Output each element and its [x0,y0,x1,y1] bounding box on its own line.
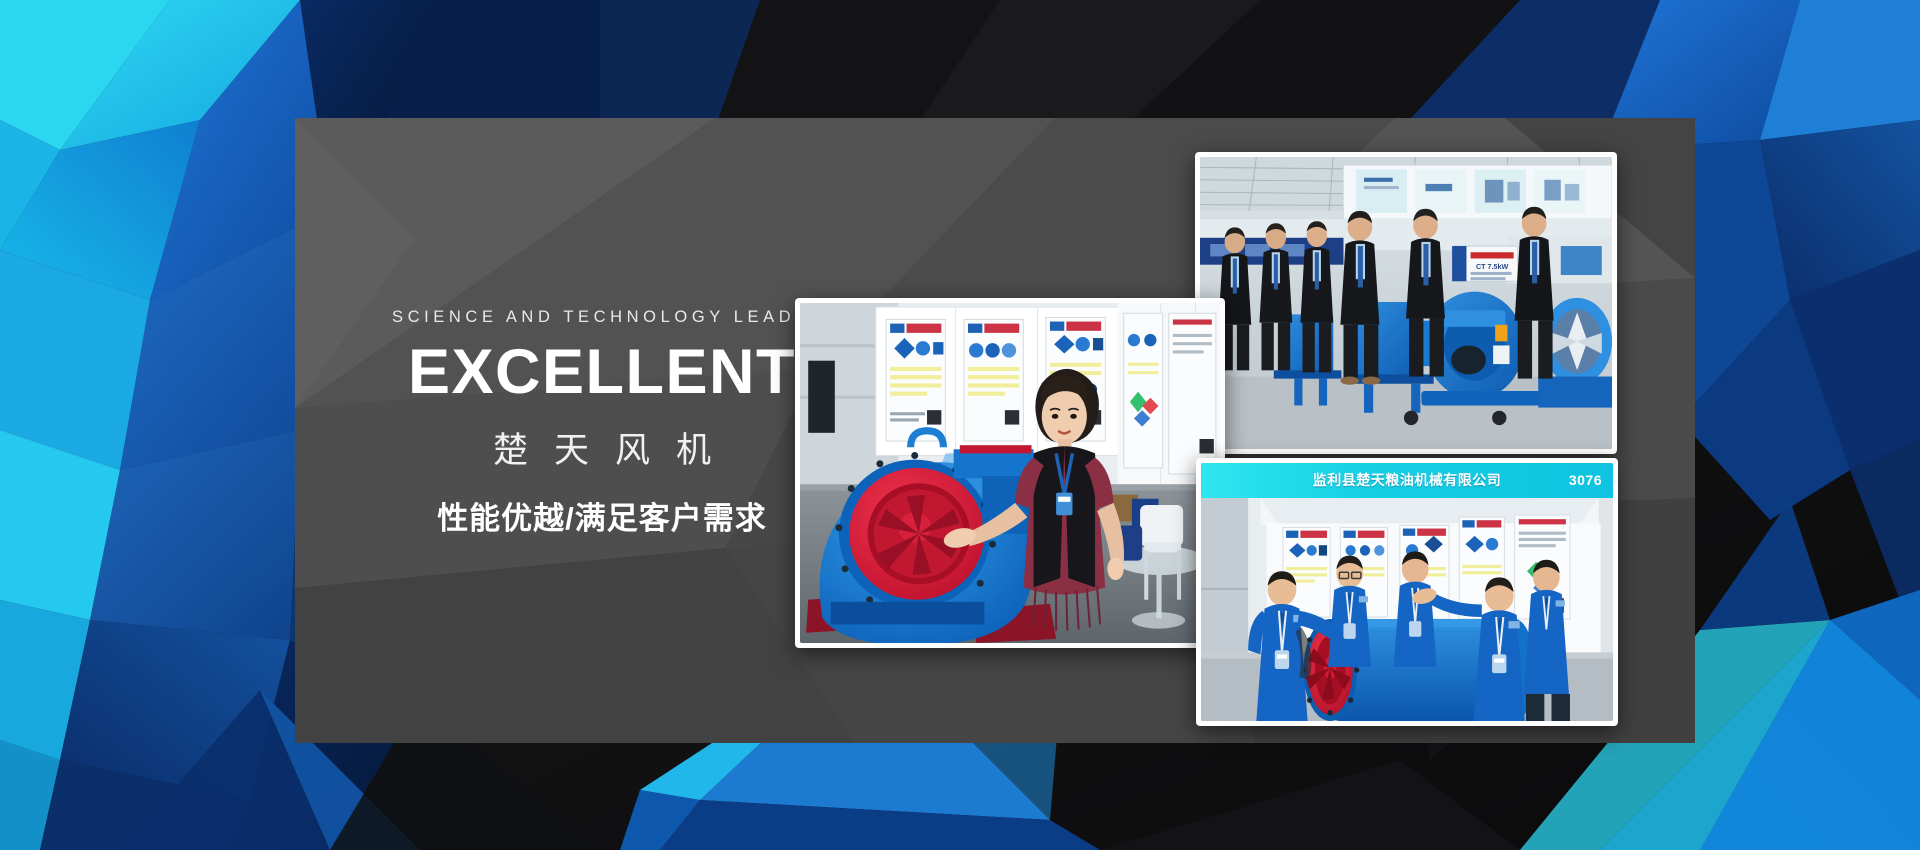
photo-team-suits-art: CT 7.5kW [1200,157,1612,449]
page-title: EXCELLENT [392,341,812,404]
photo-presenter-with-fan [795,298,1225,648]
company-name-cn: 楚天风机 [392,422,812,473]
headline-group: SCIENCE AND TECHNOLOGY LEADING EXCELLENT… [392,308,812,538]
eyebrow-text: SCIENCE AND TECHNOLOGY LEADING [392,308,812,327]
svg-text:CT 7.5kW: CT 7.5kW [1476,262,1508,271]
booth-company-name: 监利县楚天粮油机械有限公司 [1313,470,1502,490]
photo-presenter-art [800,303,1220,643]
slogan-text: 性能优越/满足客户需求 [392,493,812,538]
booth-banner: 监利县楚天粮油机械有限公司 3076 [1201,463,1613,498]
photo-team-blue-art [1201,463,1613,721]
photo-team-in-suits: CT 7.5kW [1195,152,1617,454]
booth-number: 3076 [1569,472,1602,488]
photo-team-in-blue-polos: 监利县楚天粮油机械有限公司 3076 [1196,458,1618,726]
hero-banner: SCIENCE AND TECHNOLOGY LEADING EXCELLENT… [0,0,1920,850]
